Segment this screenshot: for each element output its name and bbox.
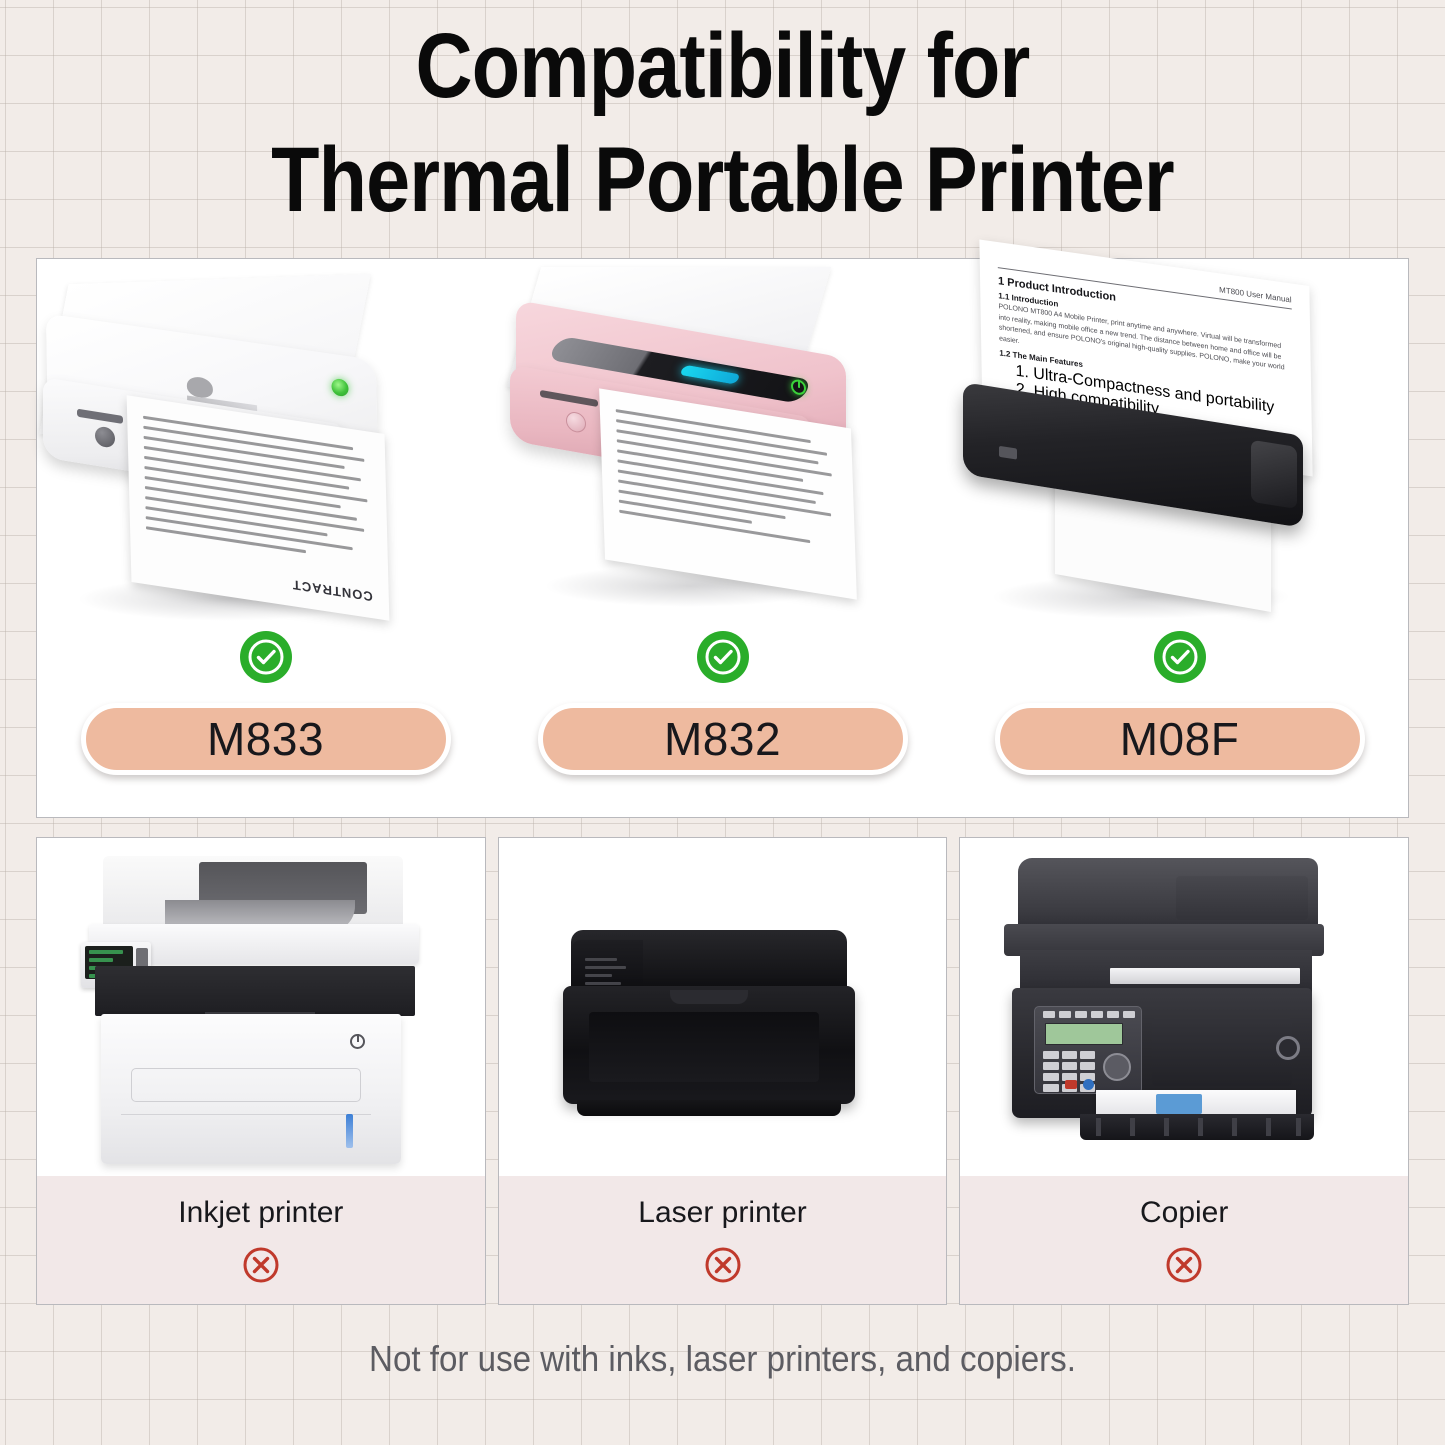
- title-line-1: Compatibility for: [101, 18, 1344, 116]
- compatible-models-card: CONTRACT M833: [36, 258, 1409, 818]
- x-circle-icon: [1163, 1244, 1205, 1286]
- document-feeder: [1176, 876, 1308, 920]
- paper-tray-outline: [131, 1068, 361, 1102]
- model-label: M832: [664, 712, 781, 766]
- document-title: CONTRACT: [292, 577, 373, 604]
- compatible-models-row: CONTRACT M833: [37, 259, 1408, 817]
- model-label: M08F: [1120, 712, 1240, 766]
- model-pill-m832[interactable]: M832: [538, 703, 908, 775]
- printer-base: [101, 1014, 401, 1164]
- printer-photo-laser: [499, 838, 947, 1176]
- power-button-icon: [566, 410, 586, 434]
- incompatible-devices-row: Inkjet printer: [36, 837, 1409, 1305]
- model-pill-m08f[interactable]: M08F: [995, 703, 1365, 775]
- printed-document: CONTRACT: [127, 395, 390, 621]
- incompatible-footer: Laser printer: [499, 1176, 947, 1304]
- printer-body: [563, 986, 855, 1104]
- printer-photo-m832: [494, 259, 951, 627]
- power-led-icon: [331, 378, 348, 397]
- tray-seam: [121, 1114, 371, 1115]
- printer-photo-copier: [960, 838, 1408, 1176]
- power-button-icon: [95, 425, 115, 448]
- navigation-dial-icon: [1103, 1053, 1131, 1081]
- compatible-item-m08f: MT800 User Manual 1 Product Introduction…: [951, 259, 1408, 817]
- lcd-display: [1045, 1023, 1123, 1045]
- paper-slot: [77, 409, 123, 424]
- front-door: [1152, 1018, 1292, 1086]
- scanner-lid: [1018, 858, 1318, 932]
- incompatible-item-copier: Copier: [959, 837, 1409, 1305]
- control-panel: [1034, 1006, 1142, 1094]
- device-label: Laser printer: [638, 1196, 806, 1230]
- model-pill-m833[interactable]: M833: [81, 703, 451, 775]
- front-door: [589, 1012, 819, 1082]
- paper-guide: [1156, 1094, 1202, 1114]
- printer-end-cap: [1251, 440, 1297, 509]
- output-paper: [1110, 968, 1300, 984]
- output-notch: [670, 990, 748, 1004]
- title-line-2: Thermal Portable Printer: [101, 132, 1344, 230]
- device-label: Copier: [1140, 1196, 1228, 1230]
- panel-function-keys: [1043, 1011, 1135, 1018]
- x-circle-icon: [702, 1244, 744, 1286]
- printer-photo-m833: CONTRACT: [37, 259, 494, 627]
- printer-photo-m08f: MT800 User Manual 1 Product Introduction…: [951, 259, 1408, 627]
- model-label: M833: [207, 712, 324, 766]
- output-slot: [95, 966, 415, 1016]
- check-circle-icon: [1154, 631, 1206, 683]
- incompatible-footer: Inkjet printer: [37, 1176, 485, 1304]
- usb-port-icon: [999, 446, 1017, 460]
- check-circle-icon: [697, 631, 749, 683]
- page-title: Compatibility for Thermal Portable Print…: [0, 18, 1445, 229]
- paper-slot: [540, 390, 598, 407]
- device-label: Inkjet printer: [178, 1196, 343, 1230]
- compatible-item-m833: CONTRACT M833: [37, 259, 494, 817]
- check-circle-icon: [240, 631, 292, 683]
- power-button-icon: [350, 1034, 365, 1049]
- document-text-lines: [143, 416, 374, 571]
- status-indicator: [346, 1114, 353, 1148]
- incompatible-item-laser: Laser printer: [498, 837, 948, 1305]
- compatible-item-m832: M832: [494, 259, 951, 817]
- printer-photo-inkjet: [37, 838, 485, 1176]
- incompatible-footer: Copier: [960, 1176, 1408, 1304]
- printer-base: [577, 1100, 841, 1116]
- release-knob-icon: [1276, 1036, 1300, 1060]
- output-tray: [1080, 1114, 1314, 1140]
- x-circle-icon: [240, 1244, 282, 1286]
- incompatible-item-inkjet: Inkjet printer: [36, 837, 486, 1305]
- document-text-lines: [616, 409, 842, 555]
- stop-button-icon: [1065, 1080, 1077, 1089]
- footer-note: Not for use with inks, laser printers, a…: [58, 1338, 1387, 1380]
